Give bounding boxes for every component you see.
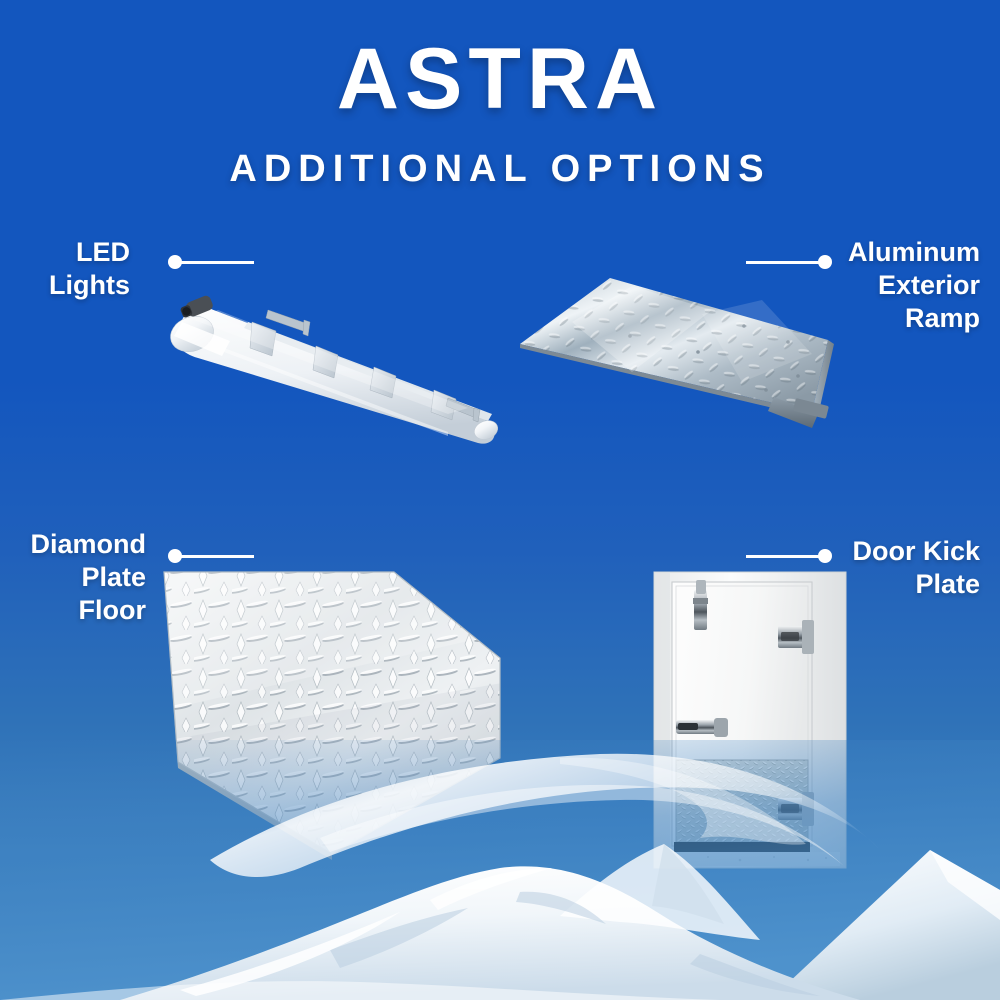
callout-label-led-lights: LED Lights	[0, 236, 130, 302]
connector-door-kick-plate	[746, 549, 832, 563]
poster-canvas: ASTRA ADDITIONAL OPTIONS LED Lights Alum…	[0, 0, 1000, 1000]
product-image-led-lights	[148, 262, 528, 452]
product-image-diamond-plate-floor	[156, 562, 508, 862]
product-image-aluminum-exterior-ramp	[512, 262, 852, 442]
connector-line-icon	[746, 555, 824, 558]
poster-header: ASTRA ADDITIONAL OPTIONS	[0, 0, 1000, 191]
connector-dot-icon	[818, 549, 832, 563]
connector-diamond-plate-floor	[168, 549, 254, 563]
connector-line-icon	[176, 555, 254, 558]
page-subtitle: ADDITIONAL OPTIONS	[0, 148, 1000, 191]
callout-label-diamond-plate-floor: Diamond Plate Floor	[0, 528, 146, 627]
page-title: ASTRA	[0, 36, 1000, 122]
product-image-door-kick-plate	[650, 568, 850, 878]
